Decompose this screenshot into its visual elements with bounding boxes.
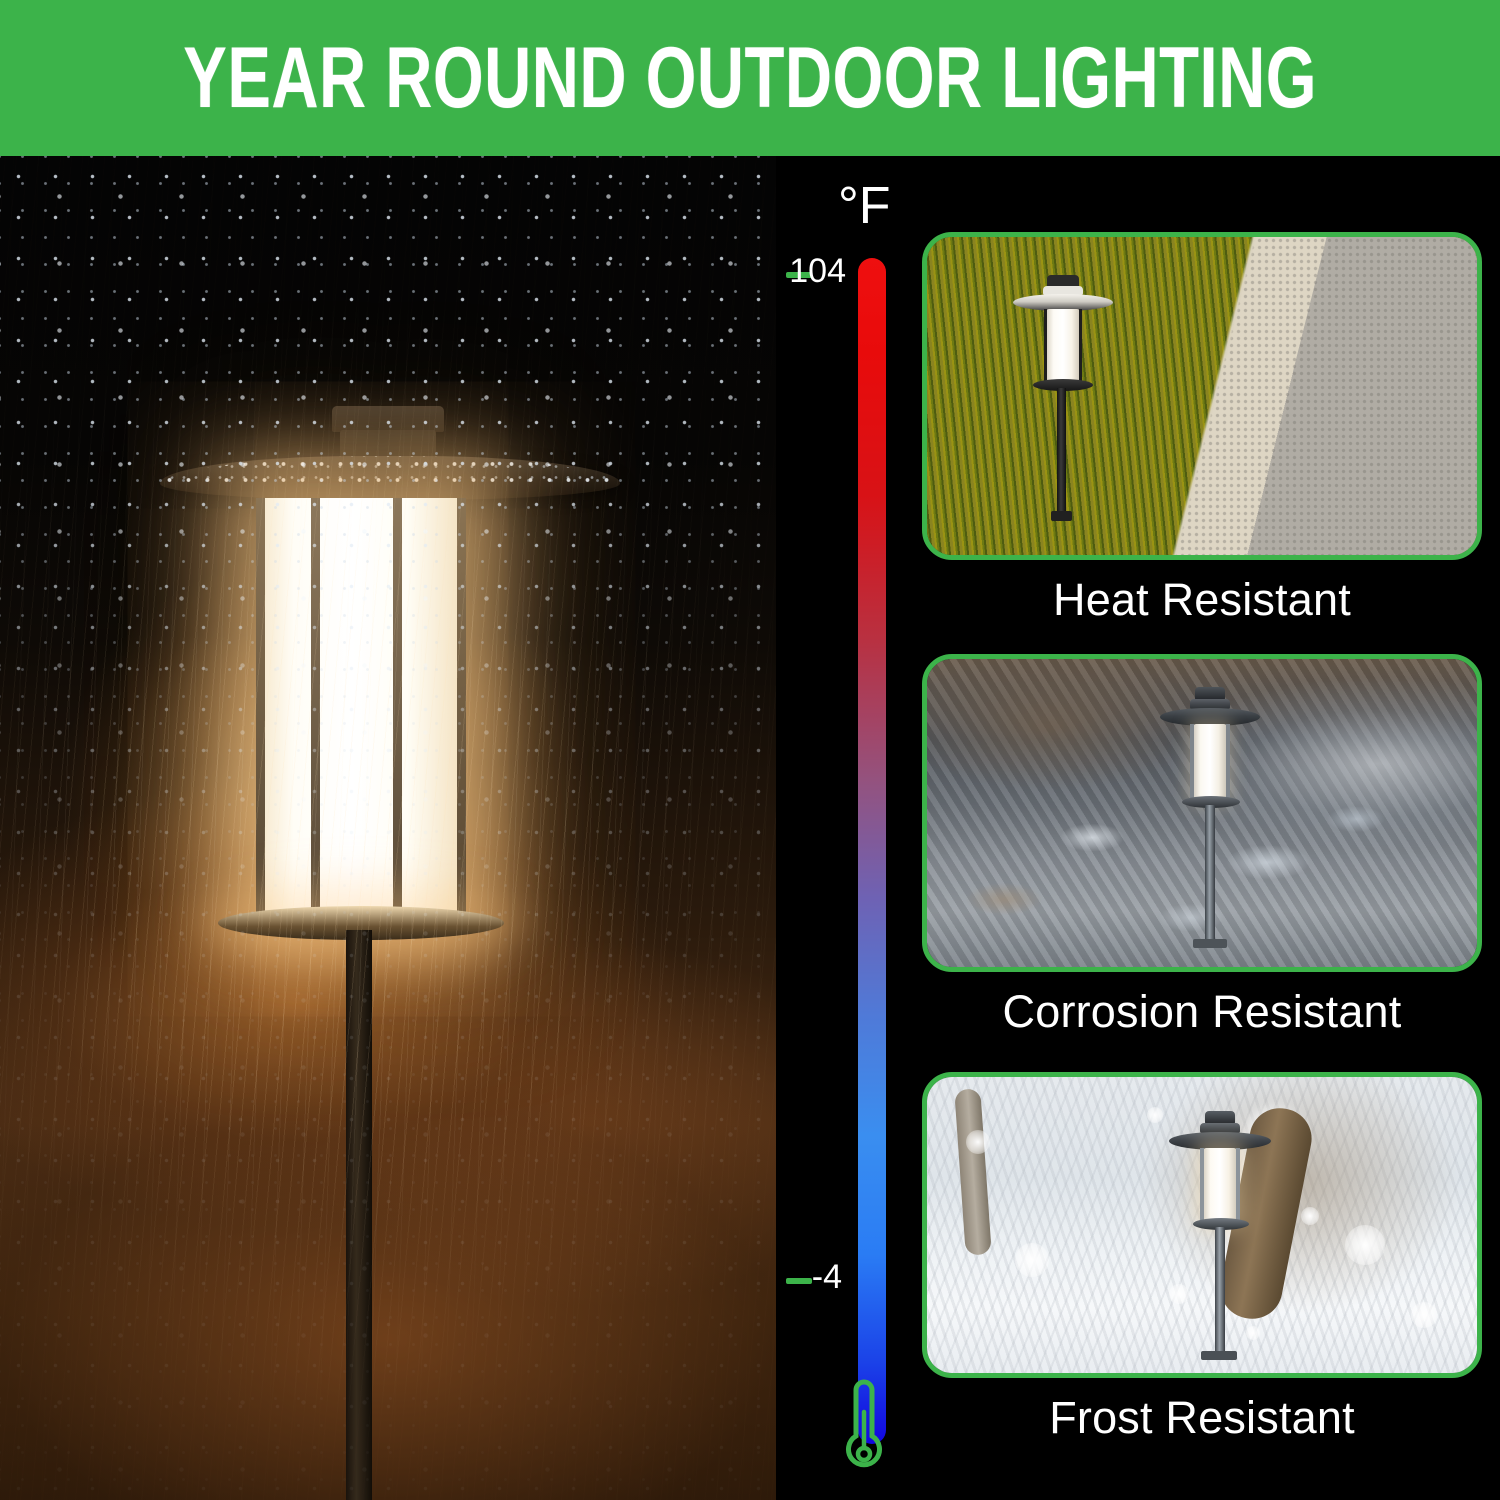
temperature-scale: °F 104 -4	[776, 156, 916, 1500]
snowflake	[966, 1130, 990, 1154]
feature-image-corrosion	[922, 654, 1482, 972]
temperature-gradient-bar	[858, 258, 886, 1444]
lamp-rail	[1044, 309, 1047, 383]
pathway-light-heat	[1003, 275, 1123, 535]
feature-card-frost[interactable]: Frost Resistant	[922, 1072, 1482, 1444]
temperature-unit-label: °F	[838, 176, 891, 236]
lamp-rail	[1236, 1148, 1240, 1222]
lamp-ground-stake	[1201, 1351, 1237, 1360]
lamp-ground-stake	[1193, 939, 1227, 948]
pathway-light-frost	[1167, 1111, 1277, 1378]
thermometer-icon	[836, 1378, 892, 1478]
feature-caption-corrosion: Corrosion Resistant	[922, 986, 1482, 1038]
lamp-rail	[1200, 1148, 1204, 1222]
feature-card-corrosion[interactable]: Corrosion Resistant	[922, 654, 1482, 1038]
lamp-stem	[1205, 805, 1215, 947]
page-title: YEAR ROUND OUTDOOR LIGHTING	[183, 29, 1317, 128]
pathway-light-corrosion	[1157, 687, 1267, 967]
max-temp-label: 104	[732, 252, 846, 291]
hero-rain-photo: IP65 Waterproof	[0, 156, 776, 1500]
lamp-stem	[1215, 1227, 1225, 1359]
feature-caption-heat: Heat Resistant	[922, 574, 1482, 626]
lamp-rail	[1226, 724, 1230, 800]
hero-water-droplets	[0, 156, 776, 1500]
snowflake	[1411, 1302, 1437, 1328]
min-temp-label: -4	[732, 1258, 842, 1297]
snowflake	[1246, 1326, 1260, 1340]
header-banner: YEAR ROUND OUTDOOR LIGHTING	[0, 0, 1500, 156]
feature-image-frost	[922, 1072, 1482, 1378]
feature-image-heat	[922, 232, 1482, 560]
lamp-diffuser	[1203, 1148, 1237, 1222]
lamp-diffuser	[1046, 309, 1080, 383]
snowflake	[1015, 1243, 1049, 1277]
lamp-stem	[1057, 388, 1066, 516]
lamp-rail	[1079, 309, 1082, 383]
snowflake	[1345, 1225, 1385, 1265]
lamp-ground-stake	[1051, 511, 1072, 521]
lamp-diffuser	[1193, 724, 1227, 800]
snowflake	[1147, 1107, 1163, 1123]
feature-card-heat[interactable]: Heat Resistant	[922, 232, 1482, 626]
product-feature-infographic: YEAR ROUND OUTDOOR LIGHTING	[0, 0, 1500, 1500]
lamp-rail	[1190, 724, 1194, 800]
feature-caption-frost: Frost Resistant	[922, 1392, 1482, 1444]
